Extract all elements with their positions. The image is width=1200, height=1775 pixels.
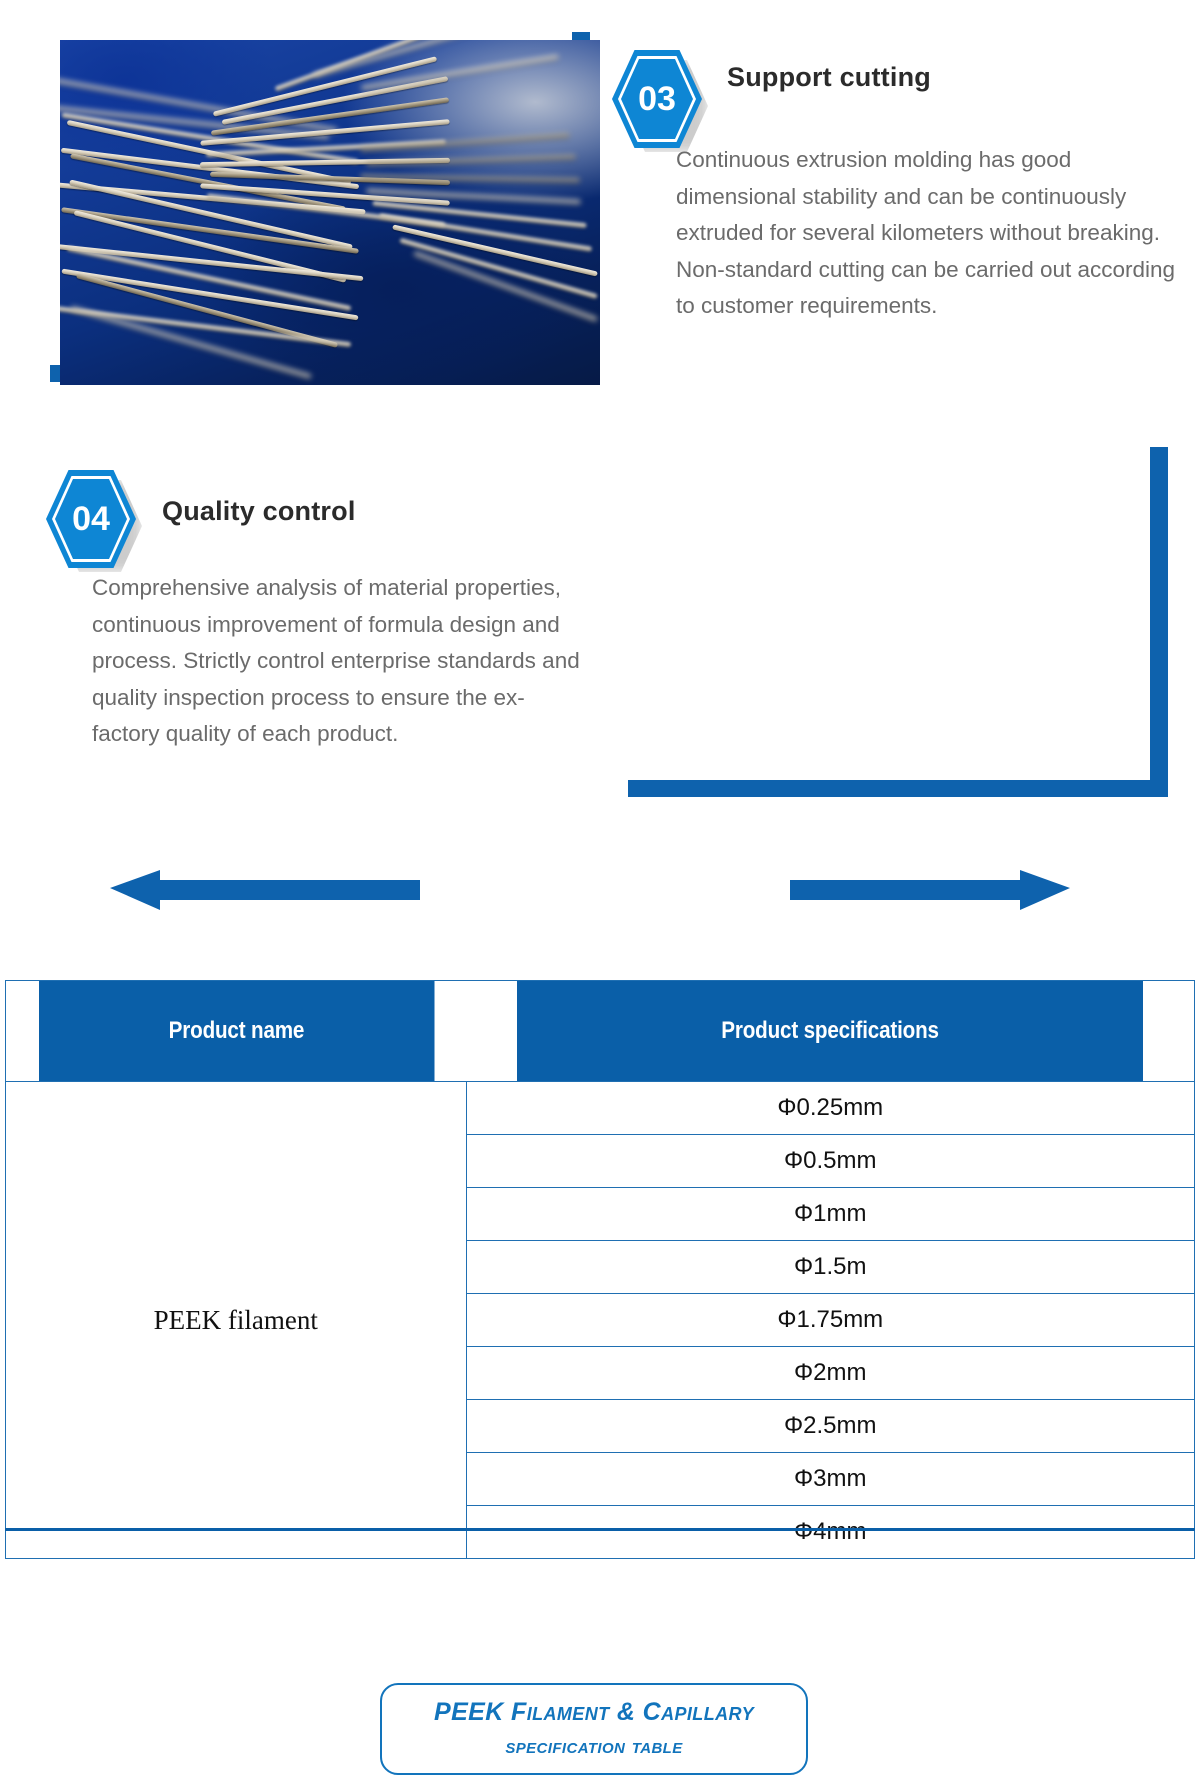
- banner-title-line1: PEEK Filament & Capillary: [382, 1695, 806, 1729]
- cell-specification: Φ2mm: [466, 1347, 1195, 1400]
- double-arrow-icon: [0, 840, 1200, 945]
- table-bottom-rule: [5, 1528, 1195, 1531]
- cell-specification: Φ4mm: [466, 1506, 1195, 1559]
- cell-specification: Φ0.5mm: [466, 1135, 1195, 1188]
- hexagon-badge-04: 04: [46, 470, 142, 574]
- cell-specification: Φ2.5mm: [466, 1400, 1195, 1453]
- cell-specification: Φ1.75mm: [466, 1294, 1195, 1347]
- photo-frame-inspection: VML300: [608, 435, 1168, 797]
- section-body-04: Comprehensive analysis of material prope…: [92, 570, 582, 753]
- banner-title-line2: specification table: [382, 1729, 806, 1763]
- table-body: PEEK filamentΦ0.25mmΦ0.5mmΦ1mmΦ1.5mΦ1.75…: [6, 1082, 1195, 1559]
- badge-number-03: 03: [612, 50, 702, 148]
- badge-number-04: 04: [46, 470, 136, 568]
- arrow-right: [790, 870, 1070, 910]
- cell-specification: Φ3mm: [466, 1453, 1195, 1506]
- column-header-product-name: Product name: [38, 981, 434, 1082]
- photo-accent-right: [1150, 447, 1168, 797]
- cell-product-name: PEEK filament: [6, 1082, 467, 1559]
- photo-accent-bottom: [628, 780, 1168, 797]
- column-header-product-specifications: Product specifications: [517, 981, 1144, 1082]
- infographic-page: 03 Support cutting Continuous extrusion …: [0, 0, 1200, 1547]
- column-header-product-name-label: Product name: [168, 1017, 304, 1045]
- section-title-03: Support cutting: [727, 62, 931, 93]
- arrow-left: [110, 870, 420, 910]
- photo-filament-rods: [60, 40, 600, 385]
- photo-frame-rods: [30, 20, 590, 382]
- table-head: Product name Product specifications: [6, 981, 1195, 1082]
- banner-arrow-group: PEEK Filament & Capillary specification …: [0, 840, 1200, 945]
- table-header-row: Product name Product specifications: [6, 981, 1195, 1082]
- section-body-03: Continuous extrusion molding has good di…: [676, 142, 1176, 325]
- hexagon-badge-03: 03: [612, 50, 708, 154]
- cell-specification: Φ0.25mm: [466, 1082, 1195, 1135]
- specification-table: Product name Product specifications PEEK…: [5, 980, 1195, 1559]
- cell-specification: Φ1mm: [466, 1188, 1195, 1241]
- cell-specification: Φ1.5m: [466, 1241, 1195, 1294]
- rod-bundle: [60, 40, 600, 385]
- banner-title-box: PEEK Filament & Capillary specification …: [380, 1683, 808, 1775]
- table-row: PEEK filamentΦ0.25mm: [6, 1082, 1195, 1135]
- section-title-04: Quality control: [162, 496, 356, 527]
- column-header-product-specifications-label: Product specifications: [721, 1017, 939, 1045]
